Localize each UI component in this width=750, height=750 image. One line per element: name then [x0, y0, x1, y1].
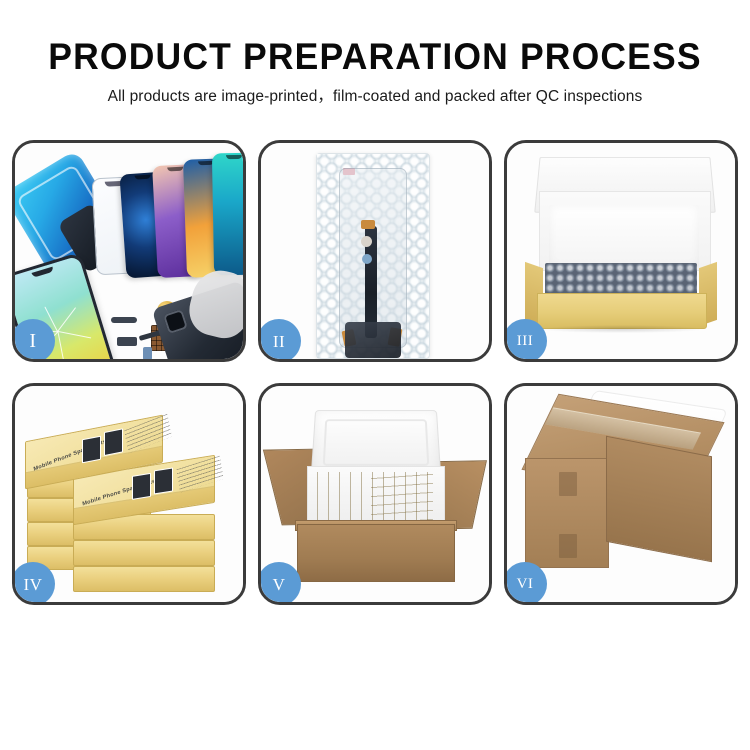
carton-front-panel: [297, 524, 455, 582]
step-panel-2[interactable]: II: [258, 140, 492, 362]
carton-seal-upper: [559, 472, 577, 496]
step-panel-5[interactable]: V: [258, 383, 492, 605]
step-panel-3[interactable]: III: [504, 140, 738, 362]
steps-grid: I II: [0, 140, 750, 605]
packed-boxes-right: [371, 472, 433, 524]
bubble-wrap-sleeve: [316, 153, 430, 359]
foam-sheet: [549, 205, 699, 267]
step-badge-5: V: [258, 562, 301, 605]
step-badge-4: IV: [12, 562, 55, 605]
step-badge-6: VI: [504, 562, 547, 605]
box-front-panel: [537, 293, 707, 329]
connector-cluster: [345, 322, 401, 358]
step-badge-1: I: [12, 319, 55, 362]
box-stack: Mobile Phone Spare Parts Mobile Phone Sp…: [21, 404, 243, 594]
header: PRODUCT PREPARATION PROCESS All products…: [0, 0, 750, 107]
page-title: PRODUCT PREPARATION PROCESS: [15, 0, 735, 78]
step-panel-4[interactable]: Mobile Phone Spare Parts Mobile Phone Sp…: [12, 383, 246, 605]
step-panel-6[interactable]: VI: [504, 383, 738, 605]
step-panel-1[interactable]: I: [12, 140, 246, 362]
carton-seal-lower: [559, 534, 577, 558]
step-badge-2: II: [258, 319, 301, 362]
product-preparation-infographic: PRODUCT PREPARATION PROCESS All products…: [0, 0, 750, 750]
step-badge-3: III: [504, 319, 547, 362]
box-shadow: [541, 325, 703, 333]
carton-right-face: [606, 436, 712, 563]
steps-row-bottom: Mobile Phone Spare Parts Mobile Phone Sp…: [0, 383, 750, 605]
steps-row-top: I II: [0, 140, 750, 362]
page-subtitle: All products are image-printed，film-coat…: [0, 78, 750, 107]
phone-teal: [212, 153, 243, 276]
